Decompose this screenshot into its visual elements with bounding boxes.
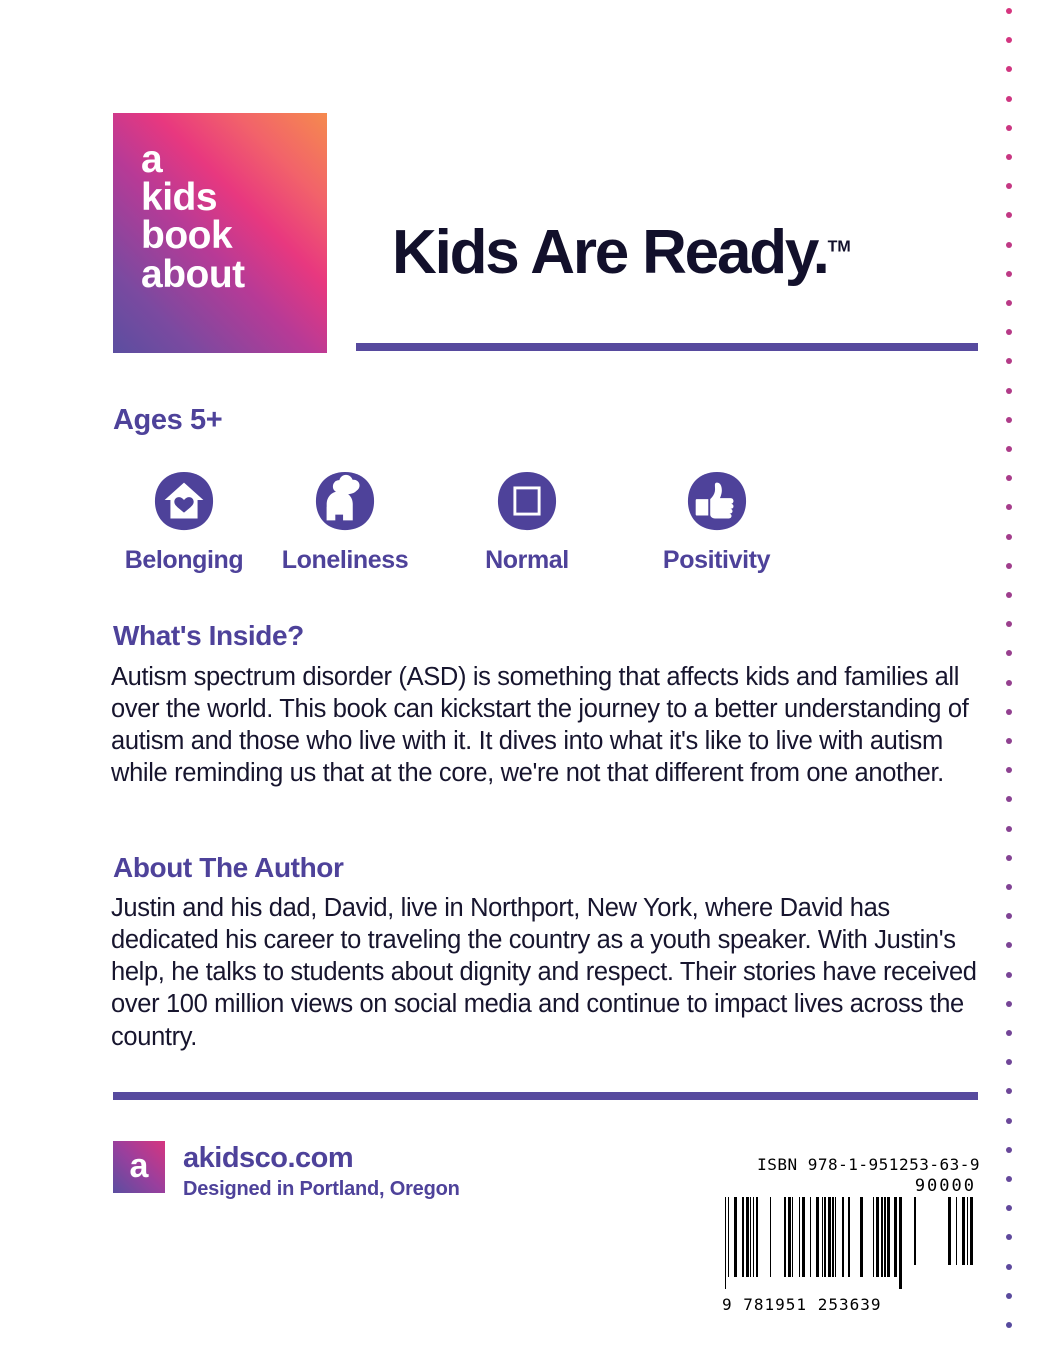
logo-wordmark: a kids book about <box>141 141 245 294</box>
house-heart-icon <box>153 470 215 532</box>
logo-line-4: about <box>141 256 245 294</box>
perforation-dot <box>1006 738 1012 744</box>
perforation-dots <box>1006 0 1018 1360</box>
perforation-dot <box>1006 446 1012 452</box>
akidsco-mark-icon: a <box>113 1141 165 1193</box>
perforation-dot <box>1006 242 1012 248</box>
perforation-dot <box>1006 826 1012 832</box>
perforation-dot <box>1006 884 1012 890</box>
square-outline-icon <box>496 470 558 532</box>
perforation-dot <box>1006 1264 1012 1270</box>
perforation-dot <box>1006 621 1012 627</box>
perforation-dot <box>1006 475 1012 481</box>
perforation-dot <box>1006 154 1012 160</box>
title-divider <box>356 343 978 351</box>
barcode-block: ISBN 978-1-951253-63-9 90000 9 781951 25… <box>722 1155 980 1314</box>
logo-line-1: a <box>141 141 245 179</box>
perforation-dot <box>1006 271 1012 277</box>
perforation-dot <box>1006 183 1012 189</box>
book-back-cover: a kids book about Kids Are Ready.TM Ages… <box>0 0 1037 1360</box>
perforation-dot <box>1006 212 1012 218</box>
website-url[interactable]: akidsco.com <box>183 1142 353 1175</box>
page-title: Kids Are Ready.TM <box>392 222 992 284</box>
perforation-dot <box>1006 767 1012 773</box>
whats-inside-body: Autism spectrum disorder (ASD) is someth… <box>111 661 986 790</box>
perforation-dot <box>1006 709 1012 715</box>
perforation-dot <box>1006 563 1012 569</box>
logo-line-2: kids <box>141 179 245 217</box>
perforation-dot <box>1006 680 1012 686</box>
thumbs-up-icon <box>686 470 748 532</box>
perforation-dot <box>1006 1030 1012 1036</box>
designed-in-tagline: Designed in Portland, Oregon <box>183 1178 460 1201</box>
ean13-barcode <box>722 1197 902 1289</box>
perforation-dot <box>1006 1205 1012 1211</box>
perforation-dot <box>1006 913 1012 919</box>
perforation-dot <box>1006 1322 1012 1328</box>
perforation-dot <box>1006 1293 1012 1299</box>
perforation-dot <box>1006 1059 1012 1065</box>
perforation-dot <box>1006 592 1012 598</box>
topic-belonging: Belonging <box>113 470 255 575</box>
topic-label: Loneliness <box>255 546 435 575</box>
about-author-body: Justin and his dad, David, live in North… <box>111 892 986 1053</box>
perforation-dot <box>1006 8 1012 14</box>
isbn-text: ISBN 978-1-951253-63-9 <box>722 1155 980 1174</box>
head-raincloud-icon <box>314 470 376 532</box>
perforation-dot <box>1006 972 1012 978</box>
perforation-dot <box>1006 96 1012 102</box>
title-block: Kids Are Ready.TM <box>392 222 992 284</box>
topic-list: Belonging Loneliness <box>113 470 853 575</box>
trademark-symbol: TM <box>828 238 851 255</box>
age-rating: Ages 5+ <box>113 404 222 437</box>
about-author-heading: About The Author <box>113 852 344 884</box>
perforation-dot <box>1006 125 1012 131</box>
barcode-addon-number: 90000 <box>722 1176 980 1196</box>
perforation-dot <box>1006 855 1012 861</box>
perforation-dot <box>1006 1234 1012 1240</box>
perforation-dot <box>1006 37 1012 43</box>
footer-divider <box>113 1092 978 1100</box>
whats-inside-heading: What's Inside? <box>113 620 304 652</box>
perforation-dot <box>1006 388 1012 394</box>
perforation-dot <box>1006 1118 1012 1124</box>
ean5-addon-barcode <box>914 1197 976 1277</box>
perforation-dot <box>1006 329 1012 335</box>
perforation-dot <box>1006 796 1012 802</box>
topic-label: Normal <box>435 546 619 575</box>
perforation-dot <box>1006 300 1012 306</box>
perforation-dot <box>1006 358 1012 364</box>
perforation-dot <box>1006 1001 1012 1007</box>
perforation-dot <box>1006 942 1012 948</box>
topic-label: Belonging <box>113 546 255 575</box>
mark-letter: a <box>130 1149 149 1183</box>
perforation-dot <box>1006 66 1012 72</box>
logo-line-3: book <box>141 217 245 255</box>
a-kids-book-about-logo: a kids book about <box>113 113 327 353</box>
perforation-dot <box>1006 417 1012 423</box>
perforation-dot <box>1006 1088 1012 1094</box>
perforation-dot <box>1006 504 1012 510</box>
topic-positivity: Positivity <box>619 470 814 575</box>
topic-loneliness: Loneliness <box>255 470 435 575</box>
perforation-dot <box>1006 1176 1012 1182</box>
perforation-dot <box>1006 1147 1012 1153</box>
perforation-dot <box>1006 534 1012 540</box>
ean-digits: 9 781951 253639 <box>722 1295 902 1314</box>
book-title-text: Kids Are Ready. <box>392 218 828 287</box>
topic-label: Positivity <box>619 546 814 575</box>
perforation-dot <box>1006 650 1012 656</box>
topic-normal: Normal <box>435 470 619 575</box>
